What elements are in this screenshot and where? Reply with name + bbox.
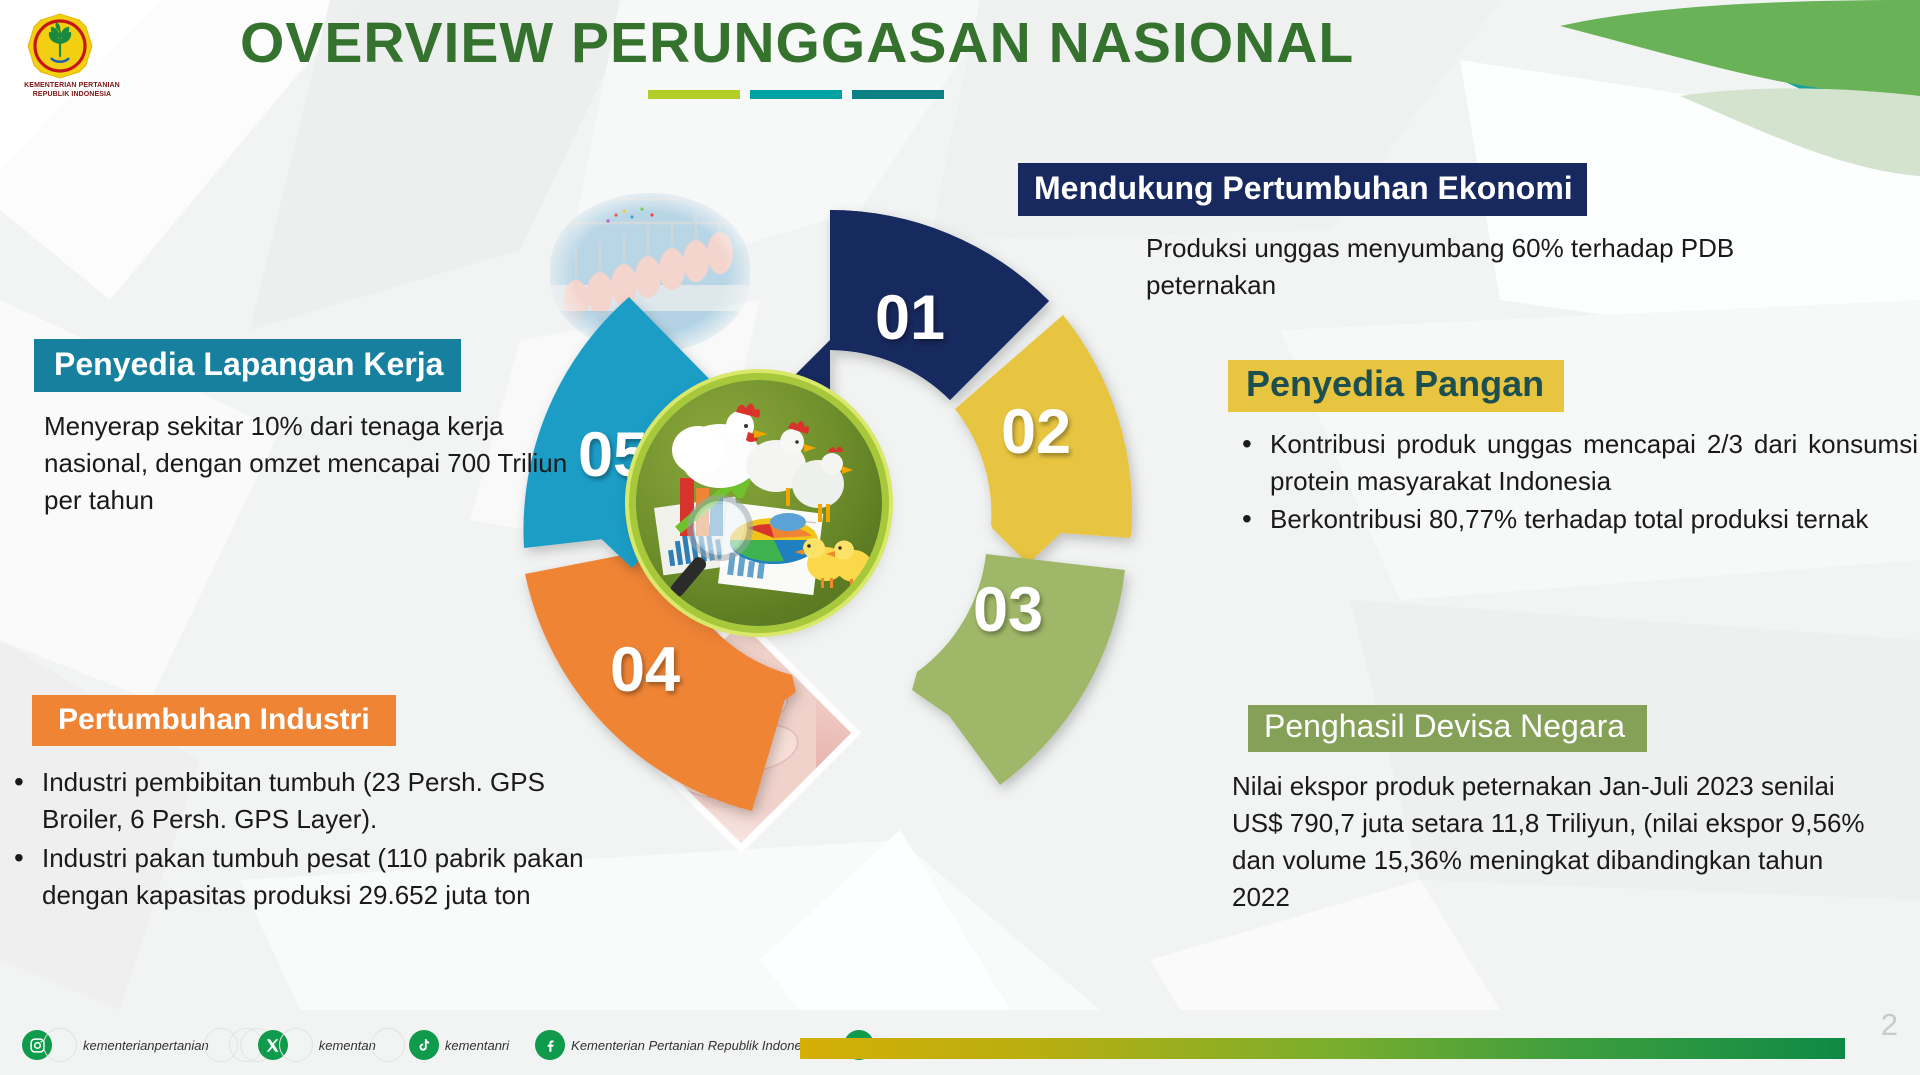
ministry-logo: KEMENTERIAN PERTANIAN REPUBLIK INDONESIA (12, 8, 108, 104)
footer: kementerianpertanian kementan kementanri (0, 1013, 1920, 1075)
card-pertumbuhan-industri: Pertumbuhan Industri Industri pembibitan… (32, 695, 592, 916)
facebook-icon (535, 1030, 565, 1060)
card02-bullet-2: Berkontribusi 80,77% terhadap total prod… (1228, 501, 1918, 538)
card-mendukung-pertumbuhan-ekonomi: Mendukung Pertumbuhan Ekonomi Produksi u… (1018, 163, 1788, 304)
social-facebook-label: Kementerian Pertanian Republik Indonesia (571, 1038, 818, 1053)
ghost-circle-1 (43, 1028, 77, 1062)
social-facebook[interactable]: Kementerian Pertanian Republik Indonesia (535, 1025, 822, 1065)
card01-body: Produksi unggas menyumbang 60% terhadap … (1146, 230, 1796, 304)
card-penyedia-lapangan-kerja: Penyedia Lapangan Kerja Menyerap sekitar… (34, 339, 574, 519)
logo-caption: KEMENTERIAN PERTANIAN REPUBLIK INDONESIA (16, 82, 128, 99)
card05-heading: Penyedia Lapangan Kerja (34, 339, 461, 392)
slide-title: OVERVIEW PERUNGGASAN NASIONAL (240, 14, 1360, 74)
ghost-circle-6 (371, 1028, 405, 1062)
social-tiktok-label: kementanri (445, 1038, 509, 1053)
card03-body: Nilai ekspor produk peternakan Jan-Juli … (1232, 768, 1872, 916)
social-tiktok[interactable]: kementanri (409, 1025, 513, 1065)
footer-gradient-bar (800, 1038, 1845, 1059)
card03-heading: Penghasil Devisa Negara (1248, 705, 1647, 752)
social-instagram[interactable]: kementerianpertanian (22, 1025, 263, 1065)
card04-body: Industri pembibitan tumbuh (23 Persh. GP… (0, 764, 600, 914)
card02-bullet-1: Kontribusi produk unggas mencapai 2/3 da… (1228, 426, 1918, 500)
rule-3 (852, 90, 944, 99)
social-x-twitter[interactable]: kementan (249, 1025, 405, 1065)
card01-heading: Mendukung Pertumbuhan Ekonomi (1018, 163, 1587, 216)
card04-bullet-1: Industri pembibitan tumbuh (23 Persh. GP… (0, 764, 600, 838)
social-x-label: kementan (319, 1038, 376, 1053)
svg-text:02: 02 (1001, 397, 1071, 467)
wheel-hub-photo (636, 380, 882, 626)
rule-2 (750, 90, 842, 99)
card-penyedia-pangan: Penyedia Pangan Kontribusi produk unggas… (1228, 360, 1918, 540)
rule-1 (648, 90, 740, 99)
title-underline-rules (648, 90, 944, 99)
svg-text:01: 01 (875, 283, 945, 353)
card05-body: Menyerap sekitar 10% dari tenaga kerja n… (44, 408, 574, 519)
tiktok-icon (409, 1030, 439, 1060)
card-penghasil-devisa-negara: Penghasil Devisa Negara Nilai ekspor pro… (1248, 705, 1908, 916)
svg-text:04: 04 (610, 635, 680, 705)
card04-heading: Pertumbuhan Industri (32, 695, 396, 746)
card04-bullet-2: Industri pakan tumbuh pesat (110 pabrik … (0, 840, 600, 914)
wheel-segment-03: 03 (912, 554, 1125, 785)
ghost-circle-5 (279, 1028, 313, 1062)
social-instagram-label: kementerianpertanian (83, 1038, 209, 1053)
card02-body: Kontribusi produk unggas mencapai 2/3 da… (1228, 426, 1918, 539)
page-number: 2 (1881, 1007, 1898, 1043)
card02-heading: Penyedia Pangan (1228, 360, 1564, 412)
svg-text:03: 03 (973, 575, 1043, 645)
